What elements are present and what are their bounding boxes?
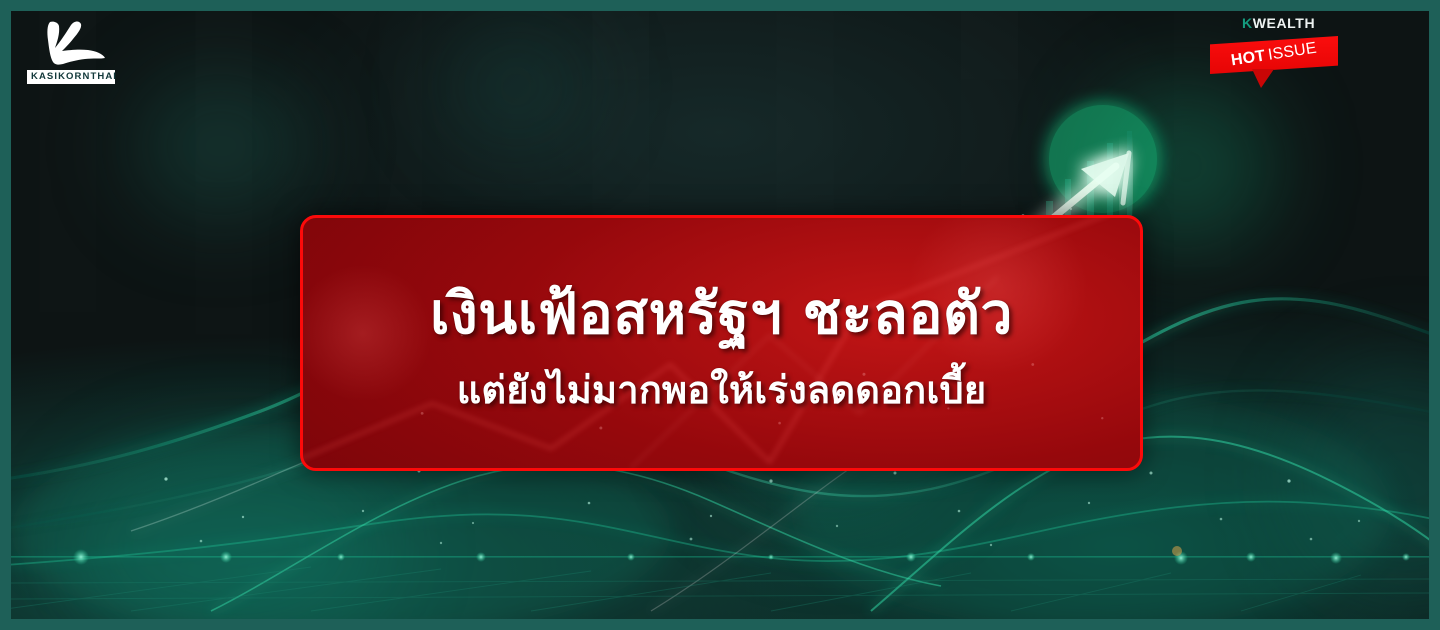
hot-issue-primary-text: HOT bbox=[1230, 48, 1266, 69]
kwealth-logo-suffix: WEALTH bbox=[1253, 15, 1315, 31]
kwealth-logo: KWEALTH bbox=[1242, 16, 1378, 30]
brand-wordmark: KASIKORNTHAI bbox=[27, 70, 115, 84]
kasikornbank-k-logo-icon bbox=[33, 18, 107, 68]
page-subtitle: แต่ยังไม่มากพอให้เร่งลดดอกเบี้ย bbox=[457, 369, 987, 413]
hot-issue-badge: HOT ISSUE bbox=[1210, 36, 1338, 74]
kwealth-hot-issue-block: KWEALTH HOT ISSUE bbox=[1218, 16, 1378, 74]
kasikornthai-logo: KASIKORNTHAI bbox=[27, 18, 119, 84]
page-title: เงินเฟ้อสหรัฐฯ ชะลอตัว bbox=[430, 283, 1013, 347]
banner-image: KASIKORNTHAI KWEALTH HOT ISSUE bbox=[0, 0, 1440, 630]
headline-banner: เงินเฟ้อสหรัฐฯ ชะลอตัว แต่ยังไม่มากพอให้… bbox=[300, 215, 1143, 471]
hot-issue-secondary-text: ISSUE bbox=[1267, 40, 1318, 63]
kwealth-logo-prefix: K bbox=[1242, 15, 1253, 31]
